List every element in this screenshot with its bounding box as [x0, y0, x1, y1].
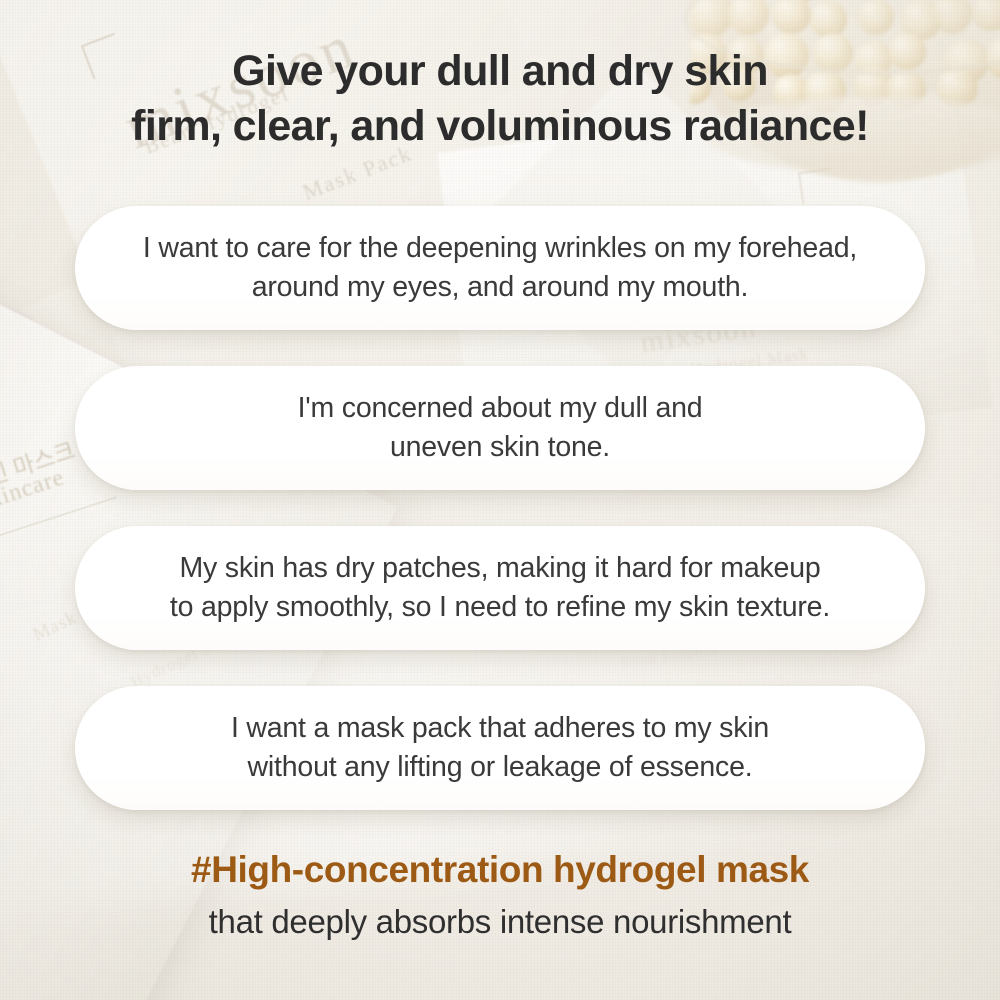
concern-card-tone: I'm concerned about my dull and uneven s… — [75, 366, 925, 490]
card-line-1: I want to care for the deepening wrinkle… — [143, 229, 857, 268]
footer-callout: #High-concentration hydrogel mask that d… — [0, 848, 1000, 941]
concern-card-adhesion: I want a mask pack that adheres to my sk… — [75, 686, 925, 810]
card-line-2: without any lifting or leakage of essenc… — [231, 748, 769, 787]
card-text: I want a mask pack that adheres to my sk… — [185, 709, 815, 787]
card-line-1: I'm concerned about my dull and — [298, 389, 703, 428]
concern-card-wrinkle: I want to care for the deepening wrinkle… — [75, 206, 925, 330]
concern-card-list: I want to care for the deepening wrinkle… — [75, 206, 925, 846]
card-text: I want to care for the deepening wrinkle… — [97, 229, 903, 307]
page-title: Give your dull and dry skin firm, clear,… — [0, 44, 1000, 154]
product-subtitle: that deeply absorbs intense nourishment — [0, 902, 1000, 942]
card-line-1: I want a mask pack that adheres to my sk… — [231, 709, 769, 748]
card-line-2: around my eyes, and around my mouth. — [143, 268, 857, 307]
promo-image-canvas: mixsoon Bean Hydrogel Mask Pack 빈 마스크 팩 … — [0, 0, 1000, 1000]
headline-line-2: firm, clear, and voluminous radiance! — [0, 99, 1000, 154]
card-line-2: to apply smoothly, so I need to refine m… — [170, 588, 830, 627]
card-text: I'm concerned about my dull and uneven s… — [252, 389, 749, 467]
concern-card-texture: My skin has dry patches, making it hard … — [75, 526, 925, 650]
card-line-1: My skin has dry patches, making it hard … — [170, 549, 830, 588]
headline-line-1: Give your dull and dry skin — [0, 44, 1000, 99]
card-text: My skin has dry patches, making it hard … — [124, 549, 876, 627]
card-line-2: uneven skin tone. — [298, 428, 703, 467]
product-hashtag: #High-concentration hydrogel mask — [0, 848, 1000, 892]
